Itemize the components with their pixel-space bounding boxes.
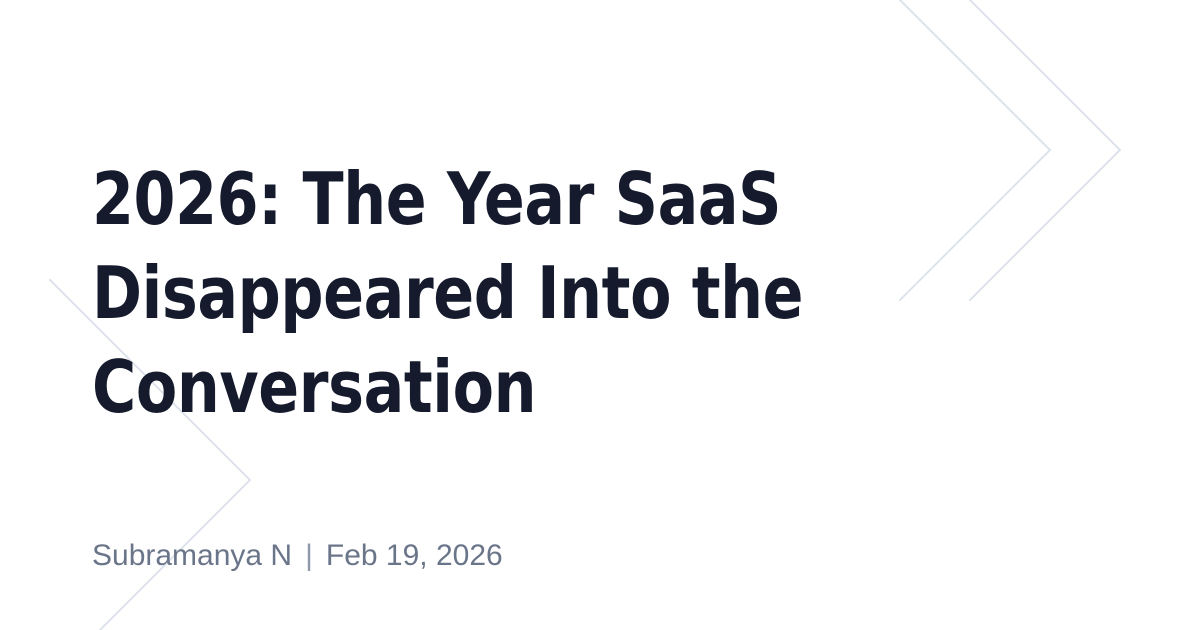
- page-title: 2026: The Year SaaS Disappeared Into the…: [92, 152, 873, 434]
- byline-author: Subramanya N: [92, 538, 292, 574]
- byline-date: Feb 19, 2026: [326, 538, 503, 574]
- byline-separator: |: [292, 538, 326, 574]
- social-card: 2026: The Year SaaS Disappeared Into the…: [0, 0, 1200, 630]
- card-content: 2026: The Year SaaS Disappeared Into the…: [0, 0, 1200, 630]
- byline: Subramanya N | Feb 19, 2026: [92, 538, 503, 574]
